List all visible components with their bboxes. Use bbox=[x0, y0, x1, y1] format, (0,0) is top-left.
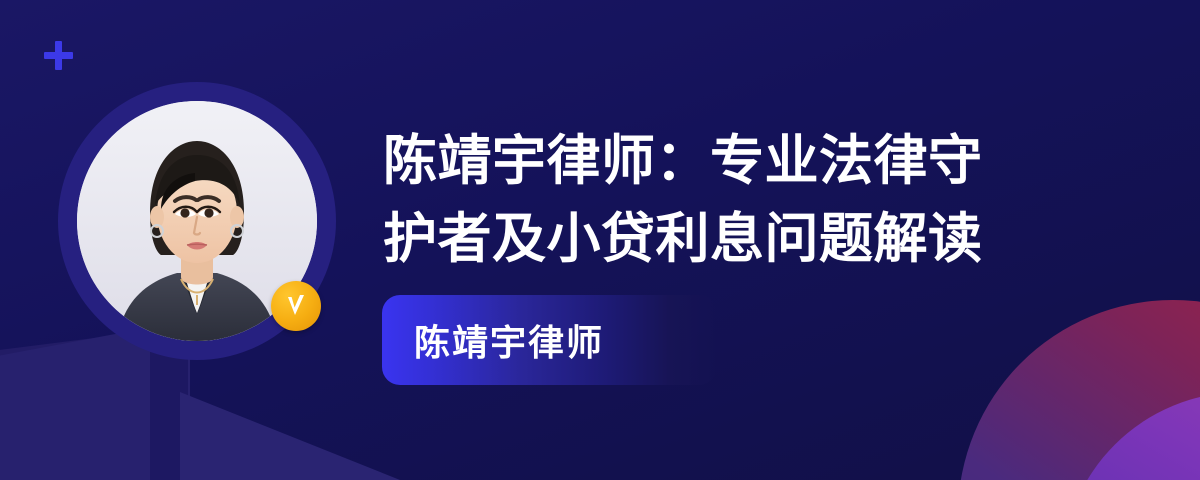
lawyer-profile-banner: 陈靖宇律师：专业法律守 护者及小贷利息问题解读 陈靖宇律师 bbox=[0, 0, 1200, 480]
plus-icon bbox=[44, 41, 73, 70]
page-title-line-1: 陈靖宇律师：专业法律守 bbox=[383, 122, 1083, 200]
lawyer-name-pill[interactable]: 陈靖宇律师 bbox=[382, 295, 717, 385]
page-title-line-2: 护者及小贷利息问题解读 bbox=[383, 200, 1083, 278]
page-title: 陈靖宇律师：专业法律守 护者及小贷利息问题解读 bbox=[383, 122, 1083, 278]
verified-badge bbox=[271, 281, 321, 331]
avatar[interactable] bbox=[77, 101, 317, 341]
plus-icon-bar-vertical bbox=[55, 41, 62, 70]
lawyer-name-label: 陈靖宇律师 bbox=[414, 314, 604, 366]
